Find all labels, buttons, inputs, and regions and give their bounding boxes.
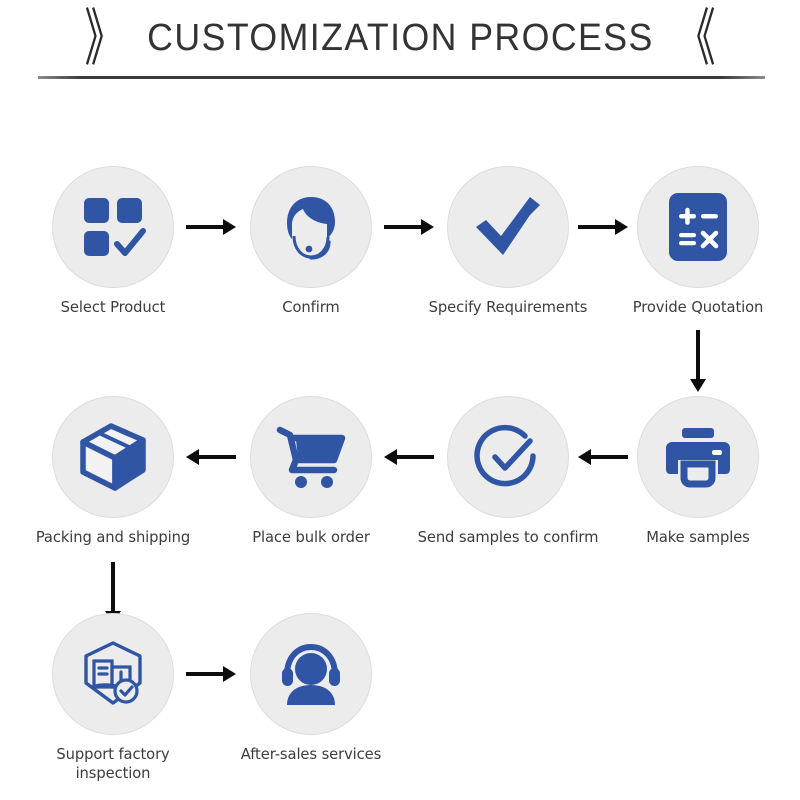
arrow-shaft	[111, 562, 115, 611]
connector-arrow-right	[186, 664, 236, 684]
step-label: Support factory inspection	[42, 745, 185, 783]
step-icon-bubble	[637, 396, 759, 518]
connector-arrow-right	[186, 217, 236, 237]
step-icon-bubble	[52, 613, 174, 735]
arrow-shaft	[186, 672, 223, 676]
headset-agent-icon	[276, 192, 346, 262]
process-step-support-factory-inspection[interactable]: Support factory inspection	[38, 613, 188, 783]
process-step-confirm[interactable]: Confirm	[236, 166, 386, 317]
arrow-head	[690, 379, 706, 392]
step-label: Specify Requirements	[408, 298, 608, 317]
connector-arrow-left	[186, 447, 236, 467]
process-step-send-samples-to-confirm[interactable]: Send samples to confirm	[393, 396, 623, 547]
arrow-head	[615, 219, 628, 235]
arrow-shaft	[578, 225, 615, 229]
process-flow-diagram: Select Product Confirm Specify Requireme…	[0, 0, 800, 800]
process-step-provide-quotation[interactable]: Provide Quotation	[593, 166, 800, 317]
step-label: Confirm	[240, 298, 383, 317]
step-icon-bubble	[52, 396, 174, 518]
arrow-shaft	[199, 455, 236, 459]
calculator-icon	[667, 191, 729, 263]
connector-arrow-down	[688, 330, 708, 392]
printer-icon	[664, 426, 732, 488]
process-step-packing-and-shipping[interactable]: Packing and shipping	[0, 396, 228, 547]
arrow-shaft	[591, 455, 628, 459]
arrow-head	[421, 219, 434, 235]
arrow-head	[384, 449, 397, 465]
arrow-head	[186, 449, 199, 465]
arrow-shaft	[397, 455, 434, 459]
checkmark-icon	[472, 193, 544, 261]
connector-arrow-right	[384, 217, 434, 237]
step-icon-bubble	[447, 396, 569, 518]
factory-inspection-shield-icon	[78, 639, 148, 709]
shopping-cart-icon	[276, 424, 346, 490]
connector-arrow-right	[578, 217, 628, 237]
step-label: Select Product	[42, 298, 185, 317]
process-step-after-sales-services[interactable]: After-sales services	[196, 613, 426, 764]
process-step-select-product[interactable]: Select Product	[38, 166, 188, 317]
step-icon-bubble	[250, 396, 372, 518]
circle-check-icon	[473, 422, 543, 492]
grid-squares-check-icon	[80, 194, 146, 260]
arrow-head	[223, 666, 236, 682]
process-step-specify-requirements[interactable]: Specify Requirements	[403, 166, 613, 317]
arrow-head	[223, 219, 236, 235]
arrow-head	[578, 449, 591, 465]
step-label: Provide Quotation	[598, 298, 798, 317]
connector-arrow-left	[384, 447, 434, 467]
step-label: Place bulk order	[211, 528, 411, 547]
step-icon-bubble	[250, 613, 372, 735]
arrow-shaft	[384, 225, 421, 229]
step-label: Packing and shipping	[4, 528, 223, 547]
arrow-shaft	[186, 225, 223, 229]
connector-arrow-left	[578, 447, 628, 467]
step-label: Make samples	[627, 528, 770, 547]
step-icon-bubble	[637, 166, 759, 288]
arrow-shaft	[696, 330, 700, 379]
process-step-make-samples[interactable]: Make samples	[623, 396, 773, 547]
step-icon-bubble	[447, 166, 569, 288]
package-box-icon	[77, 422, 149, 492]
step-icon-bubble	[52, 166, 174, 288]
step-label: After-sales services	[202, 745, 421, 764]
step-icon-bubble	[250, 166, 372, 288]
process-step-place-bulk-order[interactable]: Place bulk order	[206, 396, 416, 547]
step-label: Send samples to confirm	[399, 528, 618, 547]
support-person-headset-icon	[275, 641, 347, 707]
